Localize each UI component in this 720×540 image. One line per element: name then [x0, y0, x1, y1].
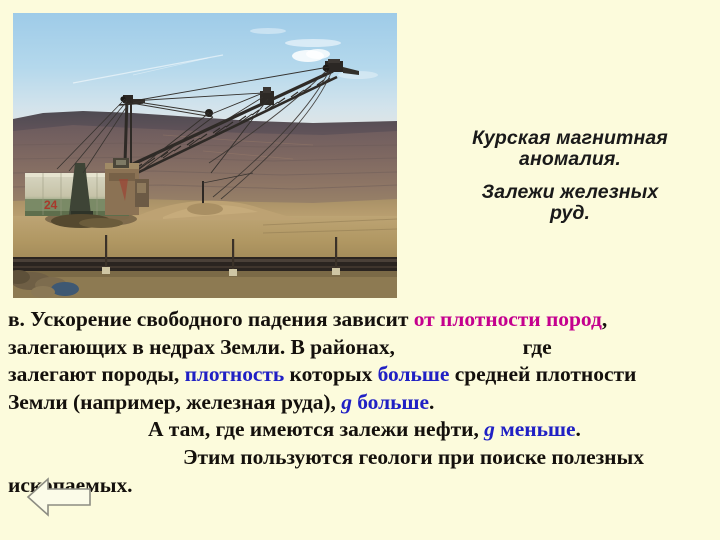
body-line-6: Этим пользуются геологи при поиске полез… — [8, 444, 714, 472]
body-line-5-highlight-less: меньше — [495, 417, 576, 441]
photo-title-kma-line2: аномалия. — [432, 149, 708, 170]
body-line-3-highlight-greater: больше — [378, 362, 450, 386]
body-line-5-symbol-g: g — [484, 417, 495, 441]
photo-title-kma: Курская магнитная аномалия. — [432, 128, 708, 170]
back-arrow-button[interactable] — [26, 477, 92, 517]
body-line-6-plain: Этим пользуются геологи при поиске полез… — [183, 445, 644, 469]
mine-photo-artwork: 24 — [13, 13, 397, 298]
photo-title-ore: Залежи железных руд. — [432, 182, 708, 224]
body-line-3-plain-b: которых — [284, 362, 377, 386]
body-line-3-plain-c: средней плотности — [449, 362, 636, 386]
body-line-3: залегают породы, плотность которых больш… — [8, 361, 714, 389]
machine-number-label: 24 — [44, 198, 58, 212]
slide-canvas: 24 — [0, 0, 720, 540]
body-line-4: Земли (например, железная руда), g больш… — [8, 389, 714, 417]
body-line-3-highlight-density: плотность — [185, 362, 285, 386]
body-text: в. Ускорение свободного падения зависит … — [8, 306, 714, 499]
body-line-4-highlight-greater: больше — [352, 390, 429, 414]
body-line-1: в. Ускорение свободного падения зависит … — [8, 306, 714, 334]
arrow-left-icon[interactable] — [26, 477, 92, 517]
body-line-7: ископаемых. — [8, 472, 714, 500]
mine-photo: 24 — [13, 13, 397, 298]
body-line-1-highlight-pink: от плотности пород — [414, 307, 602, 331]
body-line-3-plain-a: залегают породы, — [8, 362, 185, 386]
body-line-5-plain-b: . — [575, 417, 580, 441]
body-line-4-plain-a: Земли (например, железная руда), — [8, 390, 341, 414]
photo-title-kma-line1: Курская магнитная — [432, 128, 708, 149]
body-line-5-plain-a: А там, где имеются залежи нефти, — [148, 417, 484, 441]
body-line-1-plain-a: в. Ускорение свободного падения зависит — [8, 307, 414, 331]
body-line-5: А там, где имеются залежи нефти, g меньш… — [8, 416, 714, 444]
photo-title-ore-line2: руд. — [432, 203, 708, 224]
photo-title-ore-line1: Залежи железных — [432, 182, 708, 203]
body-line-1-plain-b: , — [602, 307, 607, 331]
body-line-4-symbol-g: g — [341, 390, 352, 414]
body-line-2-plain: залегающих в недрах Земли. В районах, гд… — [8, 335, 552, 359]
body-line-4-plain-b: . — [429, 390, 434, 414]
body-line-2: залегающих в недрах Земли. В районах, гд… — [8, 334, 714, 362]
